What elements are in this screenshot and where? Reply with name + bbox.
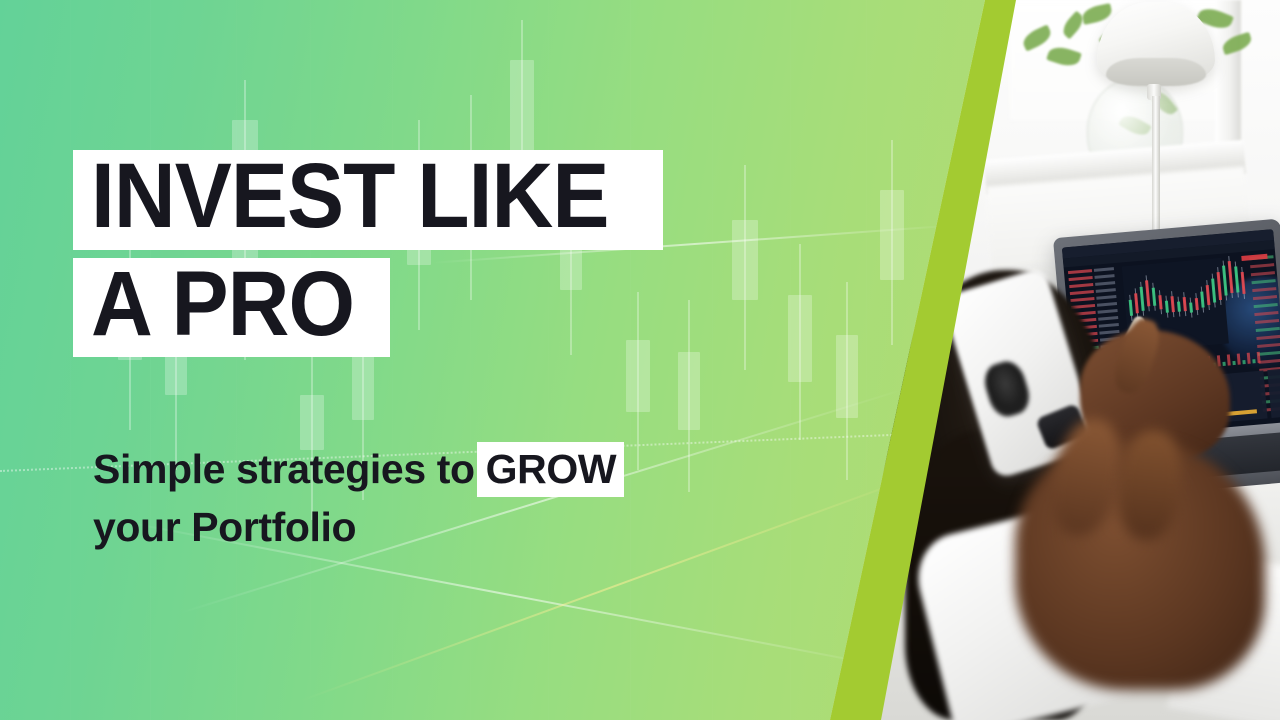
headline-line-2: A PRO xyxy=(91,268,354,342)
chart-candle xyxy=(1228,261,1234,293)
subtitle-line-1: Simple strategies toGROW xyxy=(93,440,624,498)
orderbook-row xyxy=(1070,297,1094,302)
promo-banner: INVEST LIKE A PRO Simple strategies toGR… xyxy=(0,0,1280,720)
orderbook-row xyxy=(1094,274,1114,279)
subtitle: Simple strategies toGROW your Portfolio xyxy=(93,440,624,556)
orderbook-row xyxy=(1096,288,1116,293)
accent-chip xyxy=(1241,254,1267,261)
headline: INVEST LIKE A PRO xyxy=(73,150,663,357)
orderbook-row xyxy=(1098,309,1118,314)
subtitle-line-2: your Portfolio xyxy=(93,498,624,556)
orderbook-row xyxy=(1094,267,1114,272)
ticker-row xyxy=(1250,263,1274,268)
orderbook-row xyxy=(1099,323,1119,328)
volume-bar xyxy=(1242,360,1245,364)
orderbook-row xyxy=(1097,302,1117,307)
headline-line-1: INVEST LIKE xyxy=(91,160,608,234)
lamp-inner xyxy=(1106,58,1206,86)
orderbook-row xyxy=(1069,276,1093,281)
orderbook-row xyxy=(1098,316,1118,321)
subtitle-before: Simple strategies to xyxy=(93,446,475,492)
volume-bar xyxy=(1252,359,1255,363)
volume-bar xyxy=(1227,354,1231,365)
headline-line-1-box: INVEST LIKE xyxy=(73,150,663,250)
orderbook-row xyxy=(1096,295,1116,300)
volume-bar xyxy=(1232,361,1235,365)
volume-bar xyxy=(1222,362,1225,366)
orderbook-row xyxy=(1068,269,1092,274)
orderbook-row xyxy=(1069,283,1093,288)
subtitle-highlight: GROW xyxy=(477,442,625,497)
headline-line-2-box: A PRO xyxy=(73,258,390,358)
orderbook-row xyxy=(1070,290,1094,295)
orderbook-row xyxy=(1099,330,1119,335)
orderbook-row xyxy=(1095,281,1115,286)
